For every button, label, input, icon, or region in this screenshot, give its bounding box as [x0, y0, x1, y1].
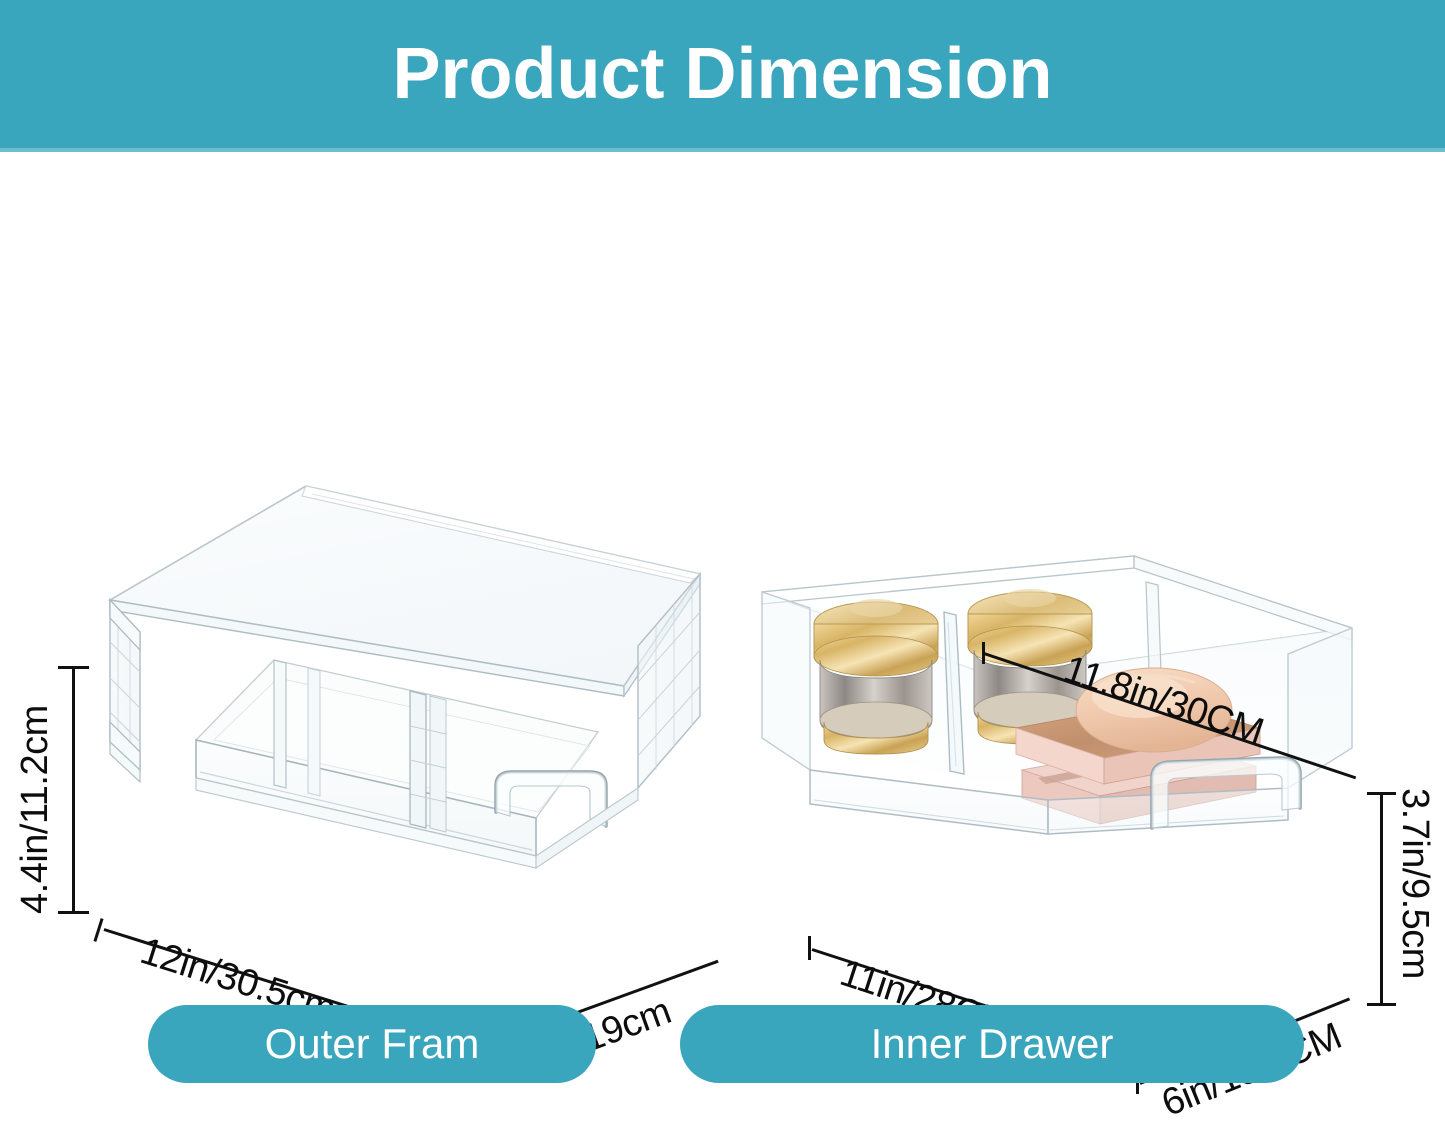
outer-frame-lid [110, 486, 700, 696]
dimension-line-vertical [72, 666, 75, 914]
outer-frame-left-wall [110, 600, 140, 770]
page-title: Product Dimension [392, 38, 1052, 110]
header-banner: Product Dimension [0, 0, 1445, 152]
dimension-label-inner-drawer-height: 3.7in/9.5cm [1393, 788, 1436, 979]
caption-label-outer-frame: Outer Fram [265, 1020, 480, 1068]
outer-frame-product-image [78, 482, 718, 872]
dimension-tick-bottom [1367, 1003, 1396, 1006]
product-illustration-stage: 4.4in/11.2cm 12in/30.5cm 7.5in/19cm [0, 152, 1445, 1091]
caption-label-inner-drawer: Inner Drawer [871, 1020, 1114, 1068]
dimension-tick-left [982, 642, 985, 664]
inner-drawer-left-wall [762, 592, 810, 770]
caption-pill-outer-frame: Outer Fram [148, 1005, 596, 1083]
dimension-tick-bottom [58, 911, 89, 914]
dimension-label-outer-frame-height: 4.4in/11.2cm [14, 705, 57, 914]
inner-drawer-product-image [748, 552, 1366, 862]
dimension-tick-left [808, 936, 811, 960]
dimension-tick-top [1367, 792, 1396, 795]
caption-pill-inner-drawer: Inner Drawer [680, 1005, 1304, 1083]
dimension-line-vertical [1380, 792, 1383, 1006]
dimension-tick-top [58, 666, 89, 669]
dimension-tick-left [93, 918, 103, 942]
